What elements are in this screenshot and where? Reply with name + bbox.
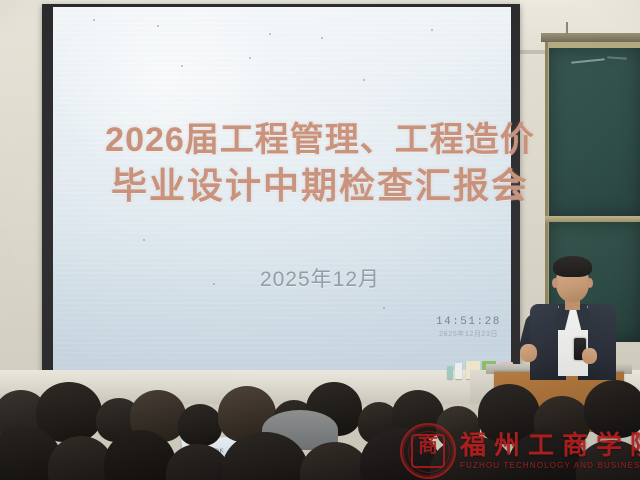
camera-timestamp-date: 2025年12月23日 (436, 329, 501, 339)
slide-title-line-1: 2026届工程管理、工程造价 (0, 118, 640, 163)
camera-timestamp-overlay: 14:51:28 2025年12月23日 (436, 316, 501, 339)
audience-head (166, 444, 230, 480)
speaker-right-hand (582, 348, 597, 364)
audience-head (178, 404, 222, 446)
speaker-ear-left (552, 278, 558, 288)
speaker-hair (553, 256, 592, 277)
audience-head (576, 440, 640, 480)
speaker-figure (520, 252, 624, 380)
audience-rows (0, 376, 640, 480)
speaker-ear-right (587, 278, 593, 288)
camera-timestamp-time: 14:51:28 (436, 316, 501, 328)
audience-head (584, 380, 640, 438)
slide-title: 2026届工程管理、工程造价 毕业设计中期检查汇报会 (0, 118, 640, 208)
speaker-left-hand (520, 344, 537, 362)
slide-title-line-2: 毕业设计中期检查汇报会 (0, 163, 640, 208)
presentation-photo: 2026届工程管理、工程造价 毕业设计中期检查汇报会 2025年12月 14:5… (0, 0, 640, 480)
